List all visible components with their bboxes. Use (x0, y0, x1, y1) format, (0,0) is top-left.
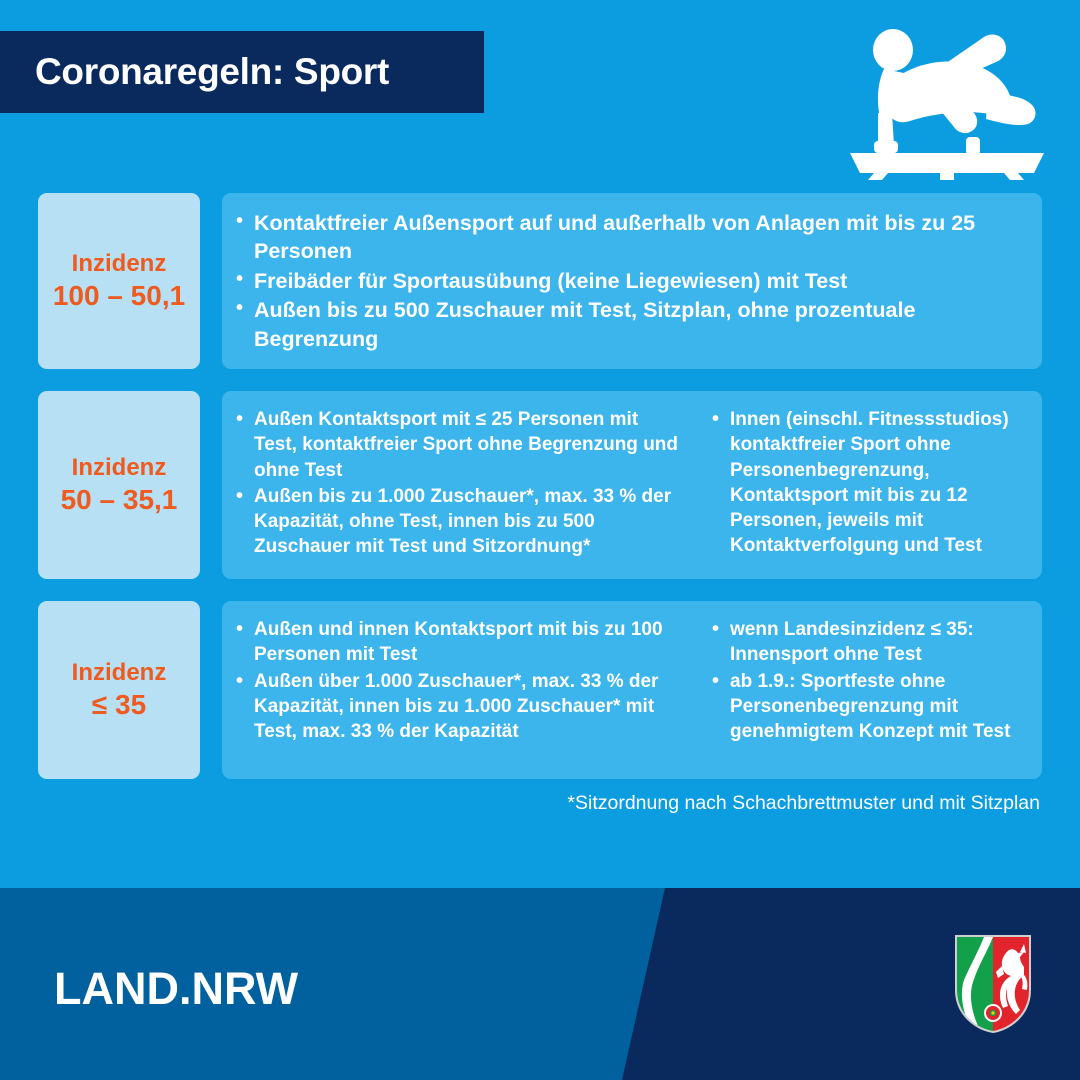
rules-panel: Kontaktfreier Außensport auf und außerha… (222, 193, 1042, 369)
rules-list: wenn Landesinzidenz ≤ 35: Innensport ohn… (708, 617, 1028, 744)
rules-list: Kontaktfreier Außensport auf und außerha… (232, 209, 1028, 353)
list-item: Außen Kontaktsport mit ≤ 25 Personen mit… (232, 407, 682, 483)
page-title: Coronaregeln: Sport (0, 51, 389, 93)
list-item: Außen und innen Kontaktsport mit bis zu … (232, 617, 682, 668)
gymnast-pommel-horse-icon (848, 25, 1048, 180)
table-row: Inzidenz ≤ 35 Außen und innen Kontaktspo… (38, 601, 1042, 779)
incidence-label: Inzidenz (72, 249, 167, 278)
rules-column-right: Innen (einschl. Fitnessstudios) kontaktf… (692, 407, 1028, 563)
incidence-range: ≤ 35 (92, 688, 146, 722)
rules-panel: Außen Kontaktsport mit ≤ 25 Personen mit… (222, 391, 1042, 579)
list-item: wenn Landesinzidenz ≤ 35: Innensport ohn… (708, 617, 1028, 668)
incidence-label: Inzidenz (72, 453, 167, 482)
rules-table: Inzidenz 100 – 50,1 Kontaktfreier Außens… (38, 193, 1042, 801)
list-item: Kontaktfreier Außensport auf und außerha… (232, 209, 1028, 266)
table-row: Inzidenz 50 – 35,1 Außen Kontaktsport mi… (38, 391, 1042, 579)
table-row: Inzidenz 100 – 50,1 Kontaktfreier Außens… (38, 193, 1042, 369)
rules-column-left: Außen und innen Kontaktsport mit bis zu … (232, 617, 692, 763)
incidence-badge: Inzidenz 100 – 50,1 (38, 193, 200, 369)
incidence-range: 100 – 50,1 (53, 279, 185, 313)
list-item: Außen bis zu 1.000 Zuschauer*, max. 33 %… (232, 484, 682, 560)
rules-panel: Außen und innen Kontaktsport mit bis zu … (222, 601, 1042, 779)
incidence-badge: Inzidenz 50 – 35,1 (38, 391, 200, 579)
rules-list: Innen (einschl. Fitnessstudios) kontaktf… (708, 407, 1028, 559)
incidence-label: Inzidenz (72, 658, 167, 687)
title-bar: Coronaregeln: Sport (0, 31, 484, 113)
incidence-range: 50 – 35,1 (61, 483, 178, 517)
list-item: ab 1.9.: Sportfeste ohne Personenbegrenz… (708, 669, 1028, 745)
rules-column-right: wenn Landesinzidenz ≤ 35: Innensport ohn… (692, 617, 1028, 763)
nrw-coat-of-arms-icon (954, 934, 1032, 1034)
rules-column: Kontaktfreier Außensport auf und außerha… (232, 209, 1028, 353)
rules-column-left: Außen Kontaktsport mit ≤ 25 Personen mit… (232, 407, 692, 563)
incidence-badge: Inzidenz ≤ 35 (38, 601, 200, 779)
rules-list: Außen und innen Kontaktsport mit bis zu … (232, 617, 682, 744)
footnote: *Sitzordnung nach Schachbrettmuster und … (567, 792, 1040, 815)
list-item: Außen über 1.000 Zuschauer*, max. 33 % d… (232, 669, 682, 745)
list-item: Innen (einschl. Fitnessstudios) kontaktf… (708, 407, 1028, 559)
list-item: Außen bis zu 500 Zuschauer mit Test, Sit… (232, 296, 1028, 353)
rules-list: Außen Kontaktsport mit ≤ 25 Personen mit… (232, 407, 682, 560)
list-item: Freibäder für Sportausübung (keine Liege… (232, 267, 1028, 295)
footer: LAND.NRW (0, 888, 1080, 1080)
land-nrw-wordmark: LAND.NRW (54, 963, 298, 1015)
